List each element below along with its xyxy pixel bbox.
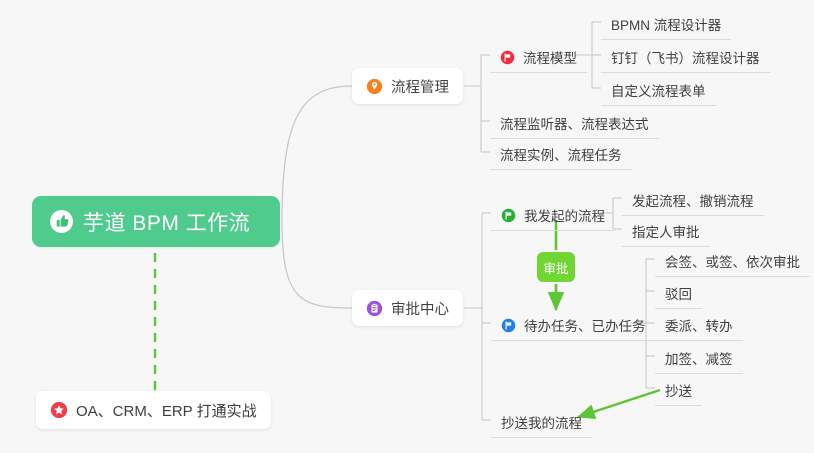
location-pin-icon <box>366 78 383 95</box>
leaf-label: 抄送我的流程 <box>501 412 582 432</box>
leaf-add-remove-sign[interactable]: 加签、减签 <box>655 344 743 374</box>
leaf-liucheng-moxing[interactable]: 流程模型 <box>490 43 587 73</box>
branch-label: 流程管理 <box>391 76 449 97</box>
leaf-listener-expression[interactable]: 流程监听器、流程表达式 <box>490 109 659 139</box>
star-icon <box>50 401 68 419</box>
leaf-label: 我发起的流程 <box>524 205 605 225</box>
leaf-my-started-process[interactable]: 我发起的流程 <box>491 201 615 231</box>
branch-node-shenpi-zhongxin[interactable]: 审批中心 <box>352 290 463 326</box>
root-node[interactable]: 芋道 BPM 工作流 <box>32 196 280 247</box>
leaf-label: 抄送 <box>665 380 692 400</box>
branch-label: 审批中心 <box>391 298 449 319</box>
leaf-label: 指定人审批 <box>632 221 700 241</box>
branch-node-liucheng-guanli[interactable]: 流程管理 <box>352 68 463 104</box>
leaf-label: 钉钉（飞书）流程设计器 <box>611 47 760 67</box>
leaf-reject[interactable]: 驳回 <box>655 279 702 309</box>
approval-badge: 审批 <box>537 252 575 282</box>
leaf-todo-done-task[interactable]: 待办任务、已办任务 <box>491 311 656 341</box>
thumbs-up-icon <box>49 209 74 234</box>
mindmap-canvas: 芋道 BPM 工作流 流程管理 流程模型 BPMN 流程设计器 钉钉（飞书）流程… <box>0 0 814 453</box>
leaf-cc-to-me-process[interactable]: 抄送我的流程 <box>491 408 592 438</box>
link-root-to-shenpi-zhongxin <box>282 221 352 308</box>
flag-icon <box>500 50 515 65</box>
leaf-label: 流程实例、流程任务 <box>500 144 622 164</box>
leaf-carbon-copy[interactable]: 抄送 <box>655 376 702 406</box>
bottom-note-label: OA、CRM、ERP 打通实战 <box>76 400 257 421</box>
leaf-label: 流程监听器、流程表达式 <box>500 113 649 133</box>
leaf-label: 自定义流程表单 <box>611 80 706 100</box>
leaf-custom-process-form[interactable]: 自定义流程表单 <box>601 76 716 106</box>
leaf-label: 流程模型 <box>523 47 577 67</box>
leaf-start-cancel-process[interactable]: 发起流程、撤销流程 <box>622 186 764 216</box>
leaf-countersign[interactable]: 会签、或签、依次审批 <box>655 247 810 277</box>
link-root-to-liucheng-guanli <box>282 86 352 221</box>
leaf-label: 驳回 <box>665 283 692 303</box>
leaf-dingtalk-feishu-designer[interactable]: 钉钉（飞书）流程设计器 <box>601 43 770 73</box>
flag-icon <box>501 318 516 333</box>
leaf-label: 加签、减签 <box>665 348 733 368</box>
approval-badge-label: 审批 <box>543 258 568 277</box>
leaf-delegate-transfer[interactable]: 委派、转办 <box>655 311 743 341</box>
leaf-label: 会签、或签、依次审批 <box>665 251 800 271</box>
leaf-label: BPMN 流程设计器 <box>611 14 721 34</box>
root-label: 芋道 BPM 工作流 <box>83 207 250 237</box>
bottom-note-node[interactable]: OA、CRM、ERP 打通实战 <box>36 391 271 429</box>
clipboard-icon <box>366 300 383 317</box>
leaf-instance-task[interactable]: 流程实例、流程任务 <box>490 140 632 170</box>
leaf-assigned-approval[interactable]: 指定人审批 <box>622 217 710 247</box>
leaf-label: 发起流程、撤销流程 <box>632 190 754 210</box>
leaf-label: 待办任务、已办任务 <box>524 315 646 335</box>
flag-icon <box>501 208 516 223</box>
leaf-label: 委派、转办 <box>665 315 733 335</box>
leaf-bpmn-designer[interactable]: BPMN 流程设计器 <box>601 10 731 40</box>
